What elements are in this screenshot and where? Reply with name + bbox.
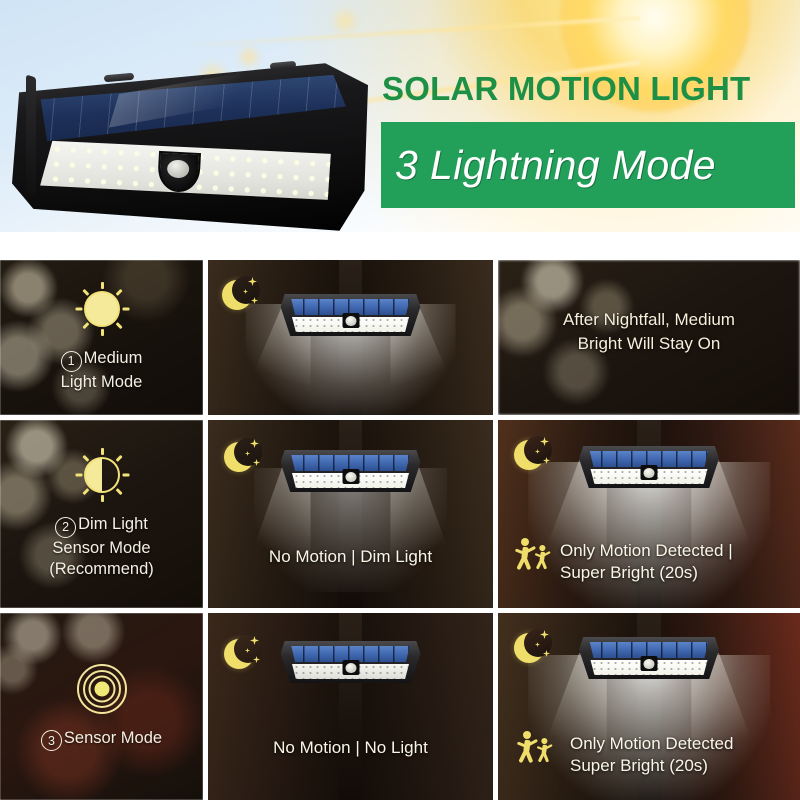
hero-banner: 3 Lightning Mode	[381, 122, 795, 208]
mounting-tab	[104, 73, 134, 83]
scene-caption-no-motion-dim: No Motion | Dim Light	[208, 546, 493, 568]
mode-number-badge: 2	[55, 517, 76, 538]
full-sun-icon	[75, 282, 129, 336]
info-line2: Bright Will Stay On	[498, 332, 800, 356]
mode-label-line2: Light Mode	[61, 372, 143, 393]
solar-lamp-icon	[579, 637, 719, 679]
scene-caption-motion-1: Only Motion Detected | Super Bright (20s…	[560, 540, 796, 584]
product-hero-image	[12, 56, 368, 238]
two-people-running-icon	[516, 731, 568, 765]
hero-section: SOLAR MOTION LIGHT 3 Lightning Mode	[0, 0, 800, 258]
two-people-running-icon	[514, 538, 566, 572]
caption-line1: No Motion | Dim Light	[208, 546, 493, 568]
solar-lamp-icon	[579, 446, 719, 488]
scene-cell-no-motion-no-light[interactable]: No Motion | No Light	[208, 613, 493, 800]
modes-grid: 1Medium Light Mode After	[0, 260, 800, 800]
mode-cell-dim-light-sensor[interactable]: 2Dim Light Sensor Mode (Recommend)	[0, 420, 203, 608]
scene-cell-motion-super-bright-1[interactable]: Only Motion Detected | Super Bright (20s…	[498, 420, 800, 608]
scene-cell-nightfall-lamp[interactable]	[208, 260, 493, 415]
caption-line1: Only Motion Detected |	[560, 540, 796, 562]
half-sun-icon	[75, 448, 129, 502]
caption-line2: Super Bright (20s)	[570, 755, 796, 777]
crescent-moon-stars-icon	[222, 276, 262, 314]
lamp-side-edge	[26, 75, 36, 196]
mode-cell-sensor[interactable]: 3Sensor Mode	[0, 613, 203, 800]
mode-label-dim-light-sensor: 2Dim Light Sensor Mode (Recommend)	[49, 514, 154, 580]
mode-label-sensor: 3Sensor Mode	[41, 728, 162, 752]
infographic-page: SOLAR MOTION LIGHT 3 Lightning Mode 1Med…	[0, 0, 800, 800]
info-cell-nightfall: After Nightfall, Medium Bright Will Stay…	[498, 260, 800, 415]
caption-line2: Super Bright (20s)	[560, 562, 796, 584]
mode-cell-medium-light[interactable]: 1Medium Light Mode	[0, 260, 203, 415]
crescent-moon-stars-icon	[514, 436, 554, 474]
lens-flare	[330, 6, 360, 36]
scene-cell-no-motion-dim[interactable]: No Motion | Dim Light	[208, 420, 493, 608]
mode-label-line3: (Recommend)	[49, 559, 154, 580]
caption-line1: Only Motion Detected	[570, 733, 796, 755]
mode-label-line1: Dim Light	[78, 515, 148, 533]
page-title: SOLAR MOTION LIGHT	[382, 72, 792, 105]
scene-caption-motion-2: Only Motion Detected Super Bright (20s)	[570, 733, 796, 777]
scene-caption-no-motion-no-light: No Motion | No Light	[208, 737, 493, 759]
crescent-moon-stars-icon	[514, 629, 554, 667]
sensor-waves-icon	[75, 662, 129, 716]
mode-label-line1: Sensor Mode	[64, 729, 162, 747]
crescent-moon-stars-icon	[224, 635, 264, 673]
crescent-moon-stars-icon	[224, 438, 264, 476]
mode-label-line2: Sensor Mode	[49, 538, 154, 559]
hero-banner-text: 3 Lightning Mode	[381, 145, 716, 186]
solar-lamp-icon	[281, 294, 421, 336]
mode-label-medium-light: 1Medium Light Mode	[61, 348, 143, 393]
info-line1: After Nightfall, Medium	[498, 308, 800, 332]
solar-lamp-icon	[281, 450, 421, 492]
info-caption-nightfall: After Nightfall, Medium Bright Will Stay…	[498, 308, 800, 356]
scene-cell-motion-super-bright-2[interactable]: Only Motion Detected Super Bright (20s)	[498, 613, 800, 800]
mode-label-line1: Medium	[84, 349, 143, 367]
mode-number-badge: 1	[61, 351, 82, 372]
caption-line1: No Motion | No Light	[208, 737, 493, 759]
mode-number-badge: 3	[41, 730, 62, 751]
solar-lamp-icon	[281, 641, 421, 683]
